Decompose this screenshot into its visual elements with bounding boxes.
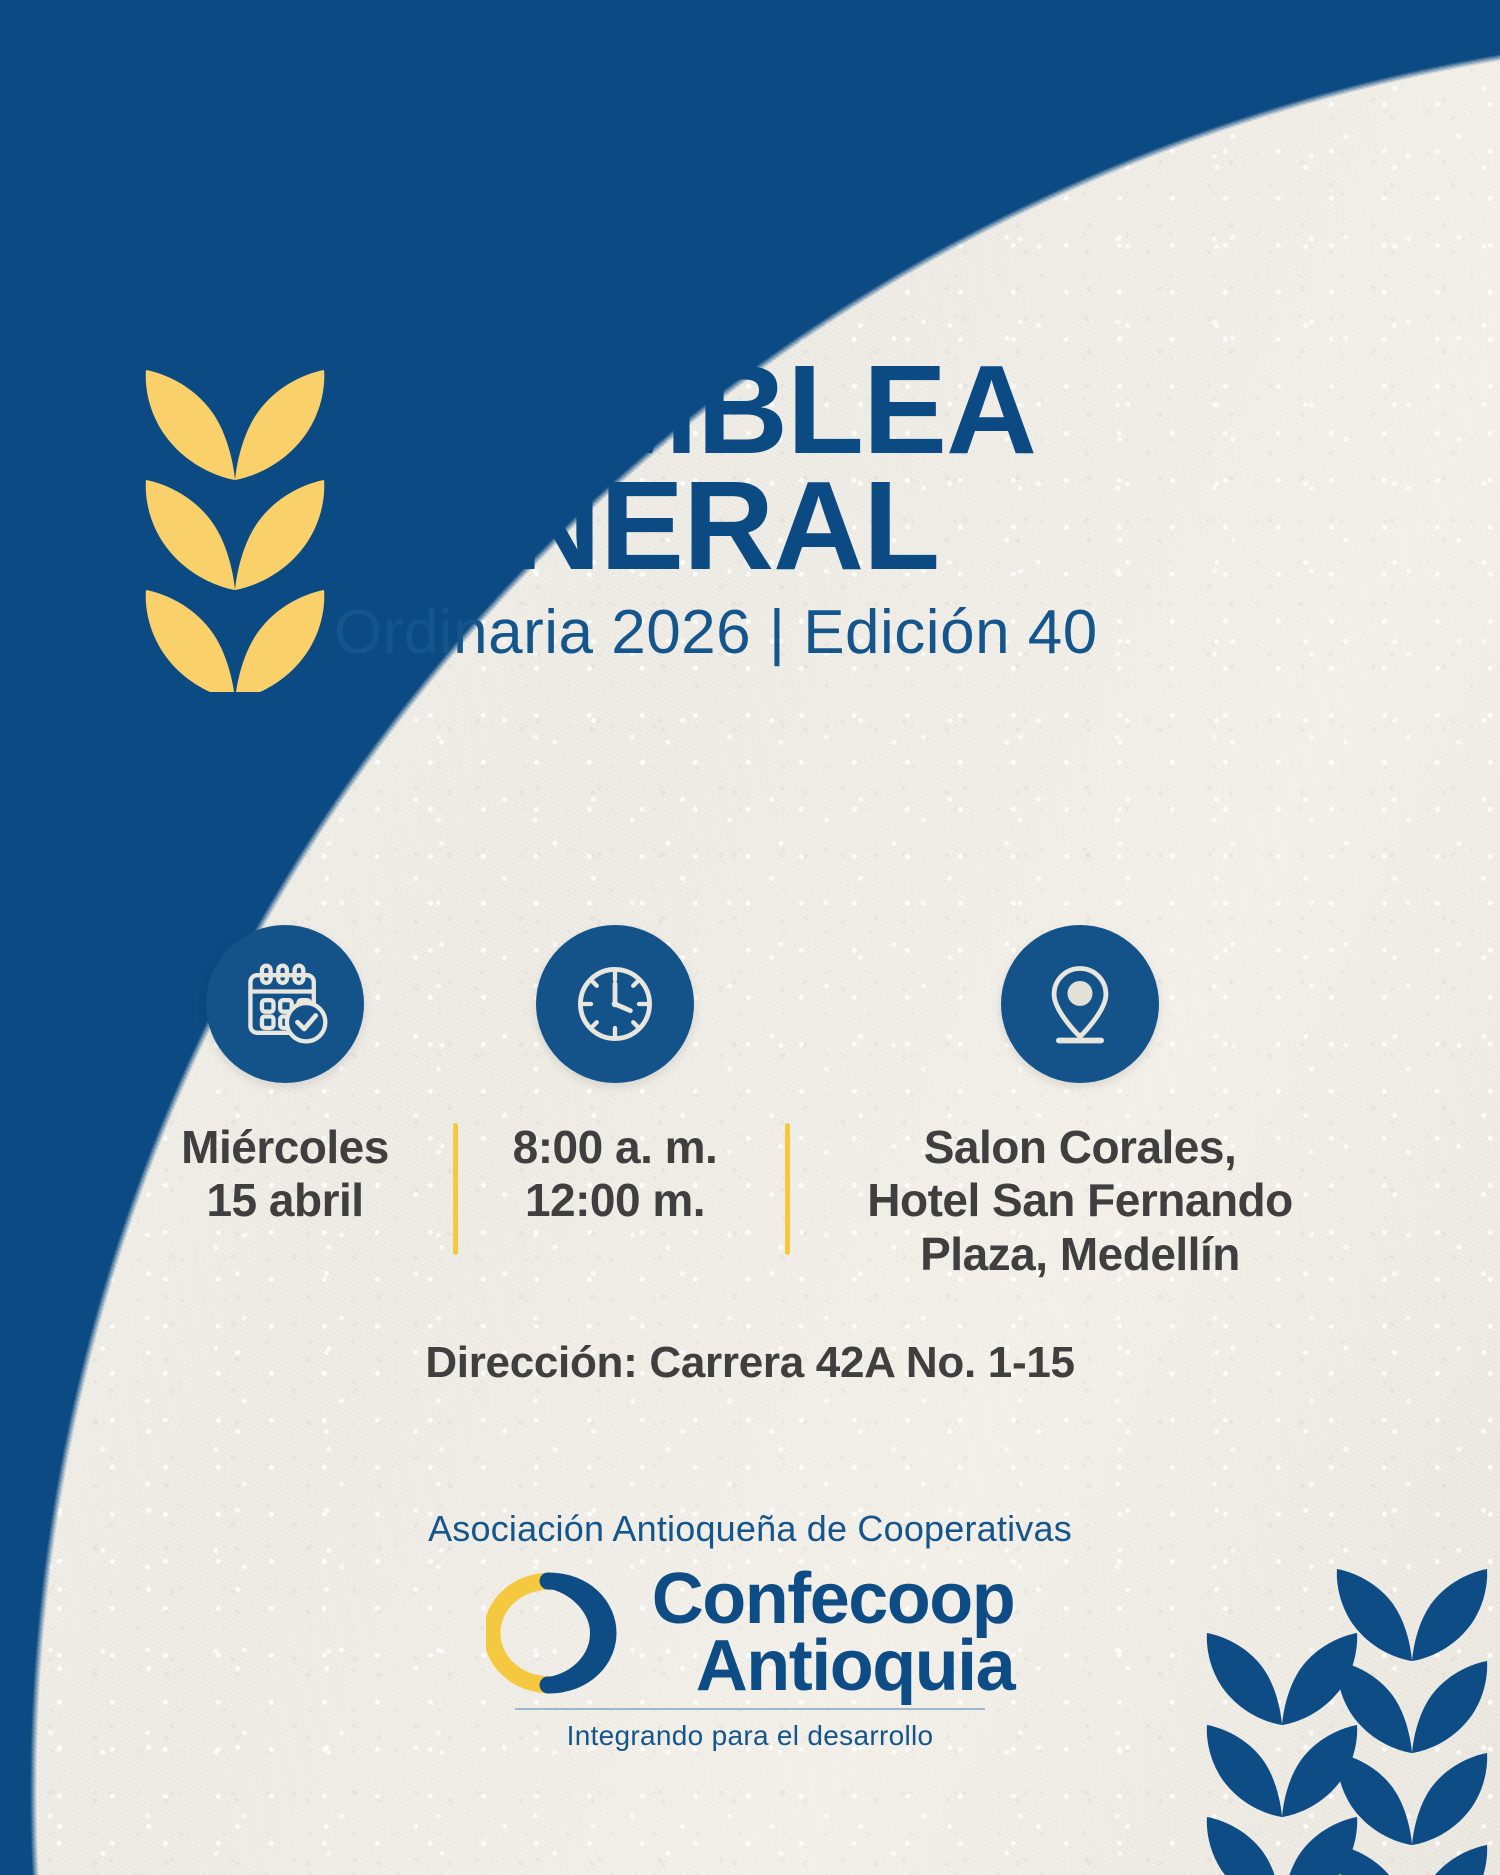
wheat-stalk-yellow-icon <box>140 362 330 697</box>
address-line: Dirección: Carrera 42A No. 1-15 <box>0 1338 1500 1388</box>
detail-place-line-3: Plaza, Medellín <box>867 1228 1292 1281</box>
logo-word-antioquia: Antioquia <box>652 1633 1014 1700</box>
confecoop-rings-icon <box>486 1567 634 1699</box>
title-block: ASAMBLEA GENERAL Ordinaria 2026 | Edició… <box>0 352 1500 697</box>
title-texts: ASAMBLEA GENERAL Ordinaria 2026 | Edició… <box>330 352 1500 664</box>
location-pin-icon <box>1001 925 1159 1083</box>
detail-place-text: Salon Corales, Hotel San Fernando Plaza,… <box>867 1121 1292 1281</box>
detail-date-text: Miércoles 15 abril <box>181 1121 389 1228</box>
event-details-row: Miércoles 15 abril <box>120 925 1380 1281</box>
title-line-2: GENERAL <box>330 468 1500 584</box>
clock-icon <box>536 925 694 1083</box>
detail-time: 8:00 a. m. 12:00 m. <box>450 925 780 1228</box>
detail-date: Miércoles 15 abril <box>120 925 450 1228</box>
tagline-divider <box>515 1708 985 1710</box>
calendar-check-icon <box>206 925 364 1083</box>
detail-place-line-1: Salon Corales, <box>867 1121 1292 1174</box>
detail-date-line-2: 15 abril <box>181 1174 389 1227</box>
detail-date-line-1: Miércoles <box>181 1121 389 1174</box>
association-name: Asociación Antioqueña de Cooperativas <box>428 1508 1072 1550</box>
poster-canvas: ASAMBLEA GENERAL Ordinaria 2026 | Edició… <box>0 0 1500 1875</box>
page-title: ASAMBLEA GENERAL <box>330 352 1500 584</box>
wheat-stalks-blue-icon <box>1186 1555 1500 1875</box>
detail-time-text: 8:00 a. m. 12:00 m. <box>513 1121 718 1228</box>
detail-place-line-2: Hotel San Fernando <box>867 1174 1292 1227</box>
subtitle: Ordinaria 2026 | Edición 40 <box>334 602 1500 664</box>
confecoop-wordmark: Confecoop Antioquia <box>652 1566 1014 1700</box>
detail-place: Salon Corales, Hotel San Fernando Plaza,… <box>780 925 1380 1281</box>
confecoop-logo: Confecoop Antioquia <box>486 1566 1014 1700</box>
detail-time-line-1: 8:00 a. m. <box>513 1121 718 1174</box>
detail-time-line-2: 12:00 m. <box>513 1174 718 1227</box>
logo-word-confecoop: Confecoop <box>652 1566 1014 1633</box>
logo-tagline: Integrando para el desarrollo <box>567 1720 934 1752</box>
